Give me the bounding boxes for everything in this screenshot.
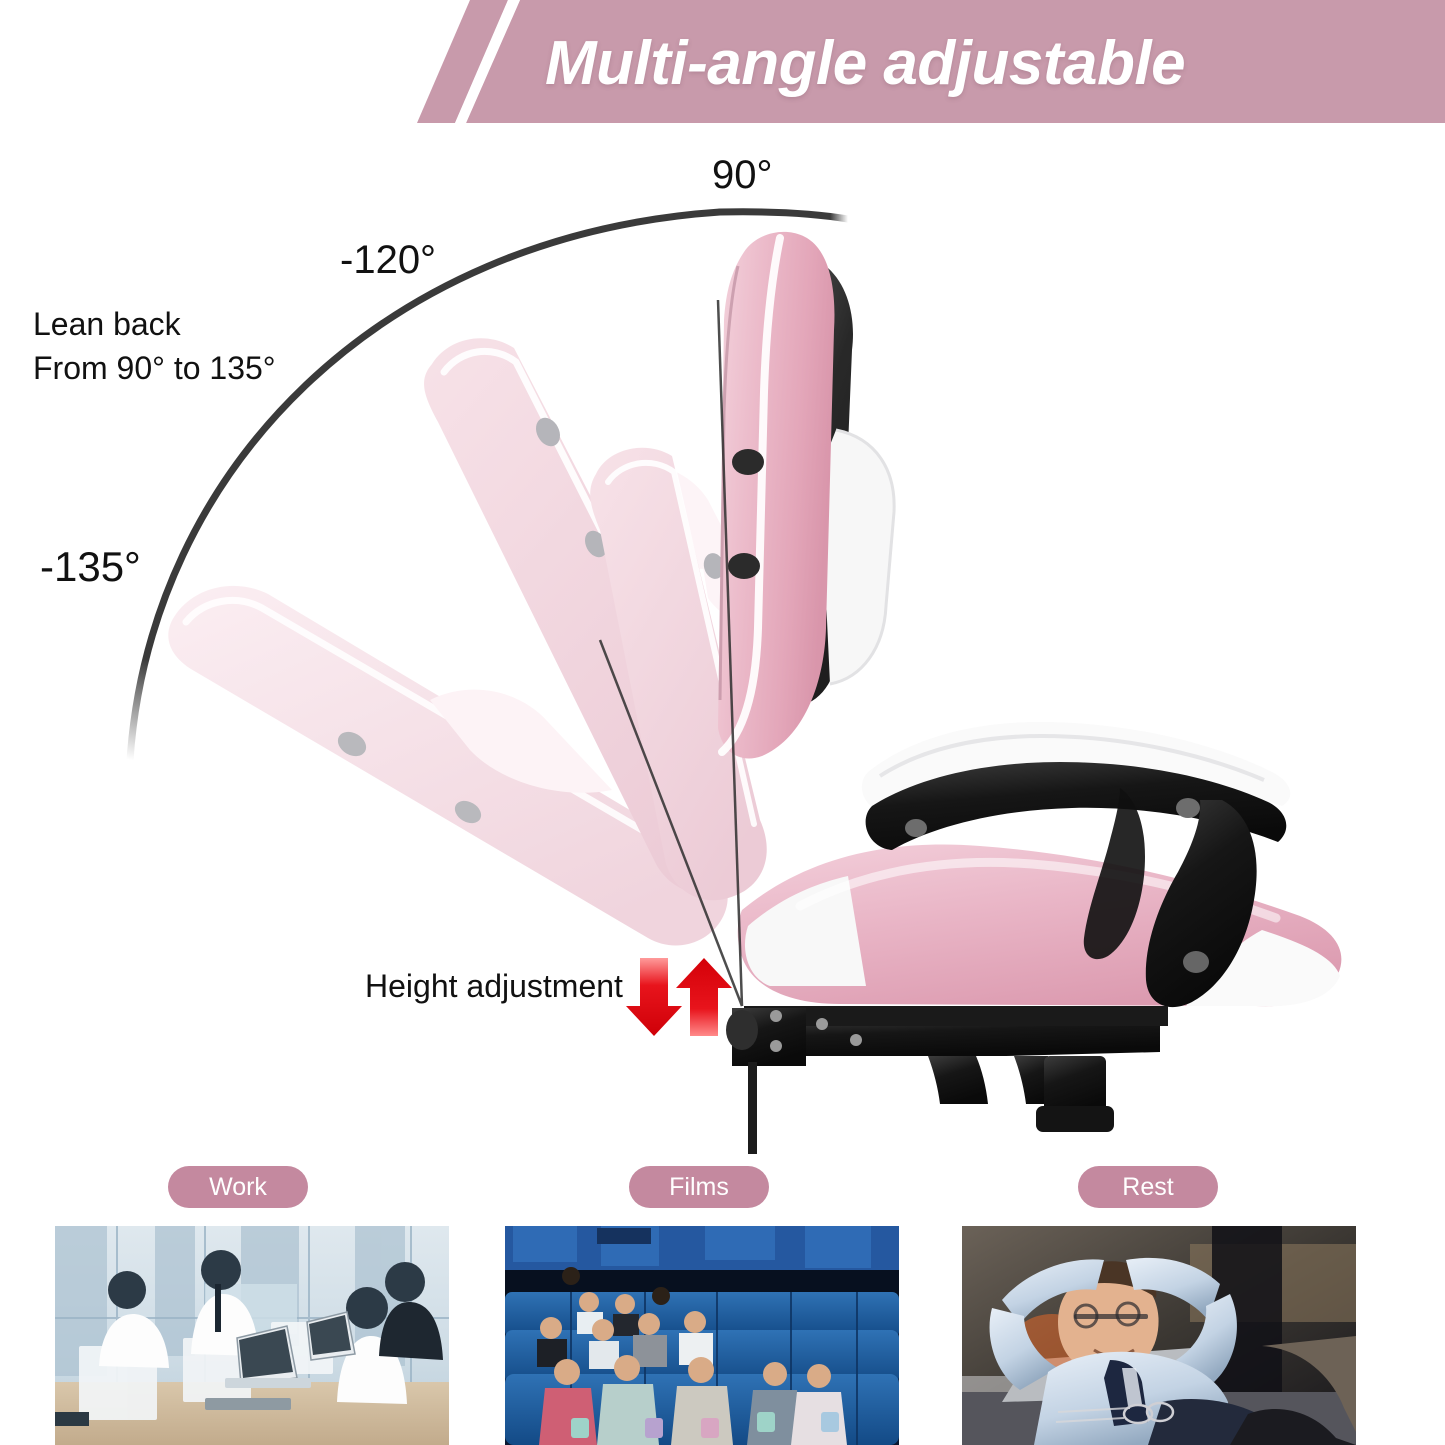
height-adjustment-label: Height adjustment (365, 968, 623, 1005)
cinema-audience-photo (505, 1226, 899, 1445)
scene-badge-work: Work (168, 1166, 308, 1208)
office-workers-photo (55, 1226, 449, 1445)
relaxing-man-photo (962, 1226, 1356, 1445)
recline-arc (130, 212, 848, 760)
scene-badge-films: Films (629, 1166, 769, 1208)
backrest-ghost-mid (590, 448, 800, 901)
angle-label-90: 90° (712, 153, 773, 198)
page-title: Multi-angle adjustable (545, 16, 1365, 111)
infographic-canvas: Multi-angle adjustable (0, 0, 1445, 1445)
lean-back-line-2: From 90° to 135° (33, 346, 276, 390)
lean-back-line-1: Lean back (33, 302, 276, 346)
base-mechanism (726, 1006, 1168, 1154)
header-banner: Multi-angle adjustable (0, 0, 1445, 128)
gaming-chair (718, 232, 1341, 1154)
arrow-down-icon (626, 958, 682, 1036)
angle-guide-lines (600, 300, 742, 1006)
angle-label-120: -120° (340, 238, 436, 283)
lean-back-note: Lean back From 90° to 135° (33, 302, 276, 390)
arrow-up-icon (676, 958, 732, 1036)
angle-label-135: -135° (40, 543, 141, 591)
scene-badge-rest: Rest (1078, 1166, 1218, 1208)
height-adjustment-arrows (626, 958, 732, 1036)
backrest-ghost-120 (424, 338, 760, 894)
backrest-ghost-135 (168, 586, 727, 946)
